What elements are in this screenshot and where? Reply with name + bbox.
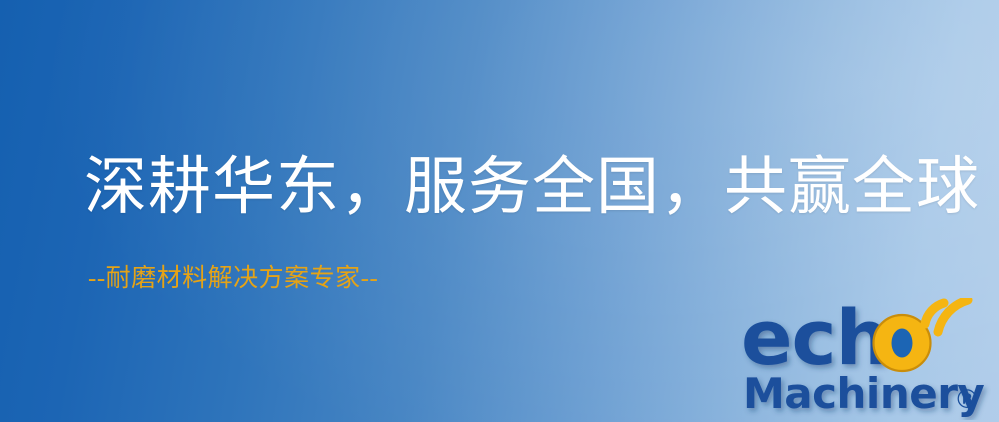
svg-text:Machinery: Machinery (743, 369, 984, 418)
registered-trademark-symbol: ® (954, 385, 980, 415)
svg-text:®: ® (954, 385, 980, 415)
echo-signal-arcs-icon (925, 300, 968, 332)
banner-headline: 深耕华东，服务全国，共赢全球 (84, 152, 980, 223)
promotional-banner: 深耕华东，服务全国，共赢全球 --耐磨材料解决方案专家-- ech (0, 0, 999, 422)
banner-subtitle: --耐磨材料解决方案专家-- (88, 264, 378, 294)
logo-subword-machinery: Machinery (743, 369, 984, 418)
echo-machinery-logo: ech Machinery ® (739, 298, 991, 420)
